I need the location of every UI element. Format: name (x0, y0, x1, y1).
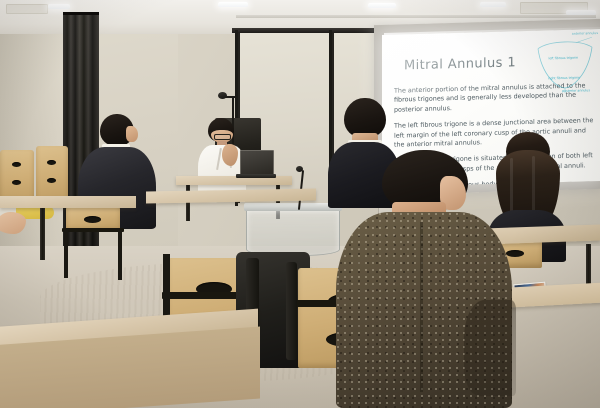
chair-cutout (47, 160, 56, 165)
presenter-laptop-base (236, 174, 276, 178)
slide-title: Mitral Annulus 1 (404, 55, 516, 73)
jacket-seam (420, 222, 423, 392)
ceiling-vent (6, 4, 48, 14)
diagram-label: anterior annulus (572, 31, 598, 36)
diagram-label: posterior annulus (562, 88, 590, 93)
ceiling-light (368, 3, 396, 8)
partition-rail-highlight (236, 15, 596, 18)
microphone-head (218, 92, 227, 99)
chair-leg (64, 230, 68, 278)
table-leg (40, 208, 45, 260)
jacket-arm-shadow (464, 300, 516, 396)
attendee-tweed-jacket-foreground (336, 150, 512, 408)
ceiling-light (48, 4, 70, 9)
lecture-room-photo: Mitral Annulus 1 The anterior portion of… (0, 0, 600, 408)
ceiling-light (218, 2, 248, 7)
chair-cutout (47, 178, 56, 183)
chair-cutout (12, 162, 21, 167)
chair-cutout (84, 216, 101, 223)
chair-cutout (12, 180, 21, 185)
table (0, 196, 136, 208)
attendee-ear-cheek (126, 126, 138, 142)
backpack-strap (286, 262, 297, 360)
glasses-icon (214, 134, 231, 140)
diagram-label: left fibrous trigone (549, 56, 579, 61)
lectern (246, 208, 340, 256)
ceiling-light (480, 2, 506, 7)
attendee-head (344, 98, 386, 138)
chair-leg (118, 230, 122, 280)
chair-rail (62, 228, 124, 232)
lectern-mic-head (296, 166, 303, 172)
